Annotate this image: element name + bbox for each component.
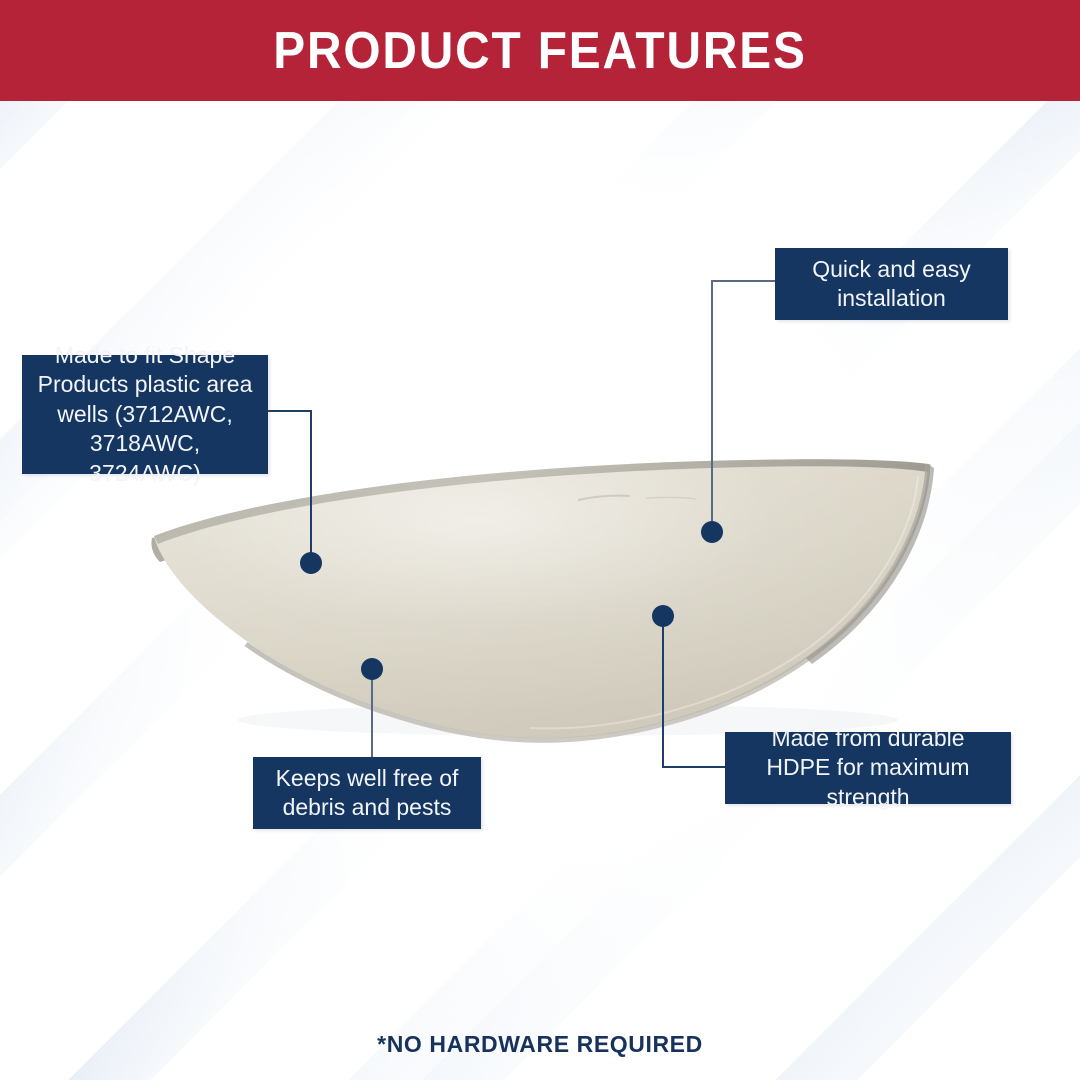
callout-made-from-durable-hdpe: Made from durable HDPE for maximum stren… (725, 732, 1011, 804)
callout-made-to-fit-shape-products: Made to fit Shape Products plastic area … (22, 355, 268, 474)
callout-fit-line-1: Made to fit Shape (32, 341, 258, 370)
page-title: PRODUCT FEATURES (273, 21, 807, 81)
callout-install-line-1: Quick and easy (812, 255, 971, 284)
infographic-canvas: PRODUCT FEATURES (0, 0, 1080, 1080)
callout-fit-line-2: Products plastic area (32, 370, 258, 399)
callout-fit-line-3: wells (3712AWC, (32, 400, 258, 429)
callout-install-line-2: installation (812, 284, 971, 313)
callout-quick-and-easy-installation: Quick and easy installation (775, 248, 1008, 320)
callout-debris-line-2: debris and pests (276, 793, 459, 822)
callout-debris-line-1: Keeps well free of (276, 764, 459, 793)
callout-hdpe-line-1: Made from durable (735, 724, 1001, 753)
callout-keeps-well-free-of-debris: Keeps well free of debris and pests (253, 757, 481, 829)
product-image (148, 452, 934, 752)
callout-hdpe-line-2: HDPE for maximum strength (735, 753, 1001, 812)
footer-note: *NO HARDWARE REQUIRED (0, 1031, 1080, 1058)
header-banner: PRODUCT FEATURES (0, 0, 1080, 101)
callout-fit-line-4: 3718AWC, 3724AWC) (32, 429, 258, 488)
